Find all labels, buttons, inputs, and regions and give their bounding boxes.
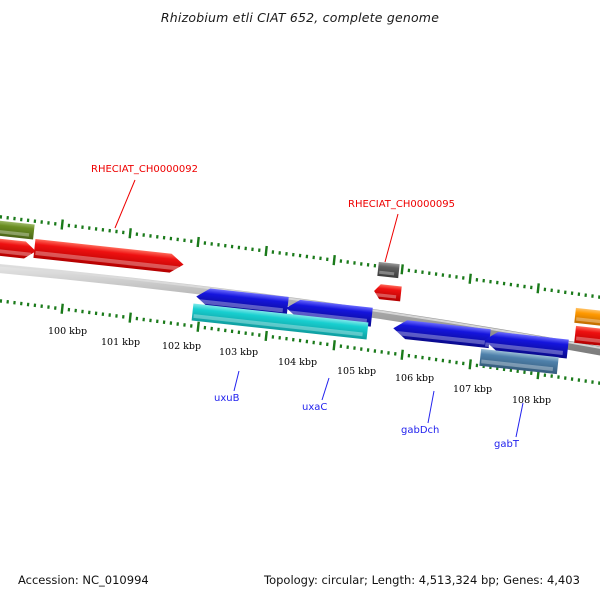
ruler-top-minor-tick [115,230,118,234]
ruler-bottom-minor-tick [374,349,377,353]
ruler-top-minor-tick [414,270,417,274]
ruler-bottom-minor-tick [163,320,166,324]
ruler-top-minor-tick [299,254,302,258]
ruler-bottom-minor-tick [210,327,213,331]
ruler-bottom-minor-tick [6,300,9,304]
ruler-bottom-minor-tick [285,337,288,341]
ruler-top-minor-tick [462,276,465,280]
ruler-top-minor-tick [204,241,207,245]
ruler-tick-label: 104 kbp [278,357,317,368]
feature-gray-box-shape[interactable] [377,262,399,278]
ruler-top-minor-tick [156,235,159,239]
ruler-bottom-minor-tick [584,379,587,383]
ruler-bottom-minor-tick [238,331,241,335]
ruler-top-minor-tick [278,251,281,255]
ruler-bottom-minor-tick [47,305,50,309]
ruler-bottom-minor-tick [476,364,479,368]
ruler-top-major-tick [128,228,131,238]
ruler-bottom-minor-tick [74,309,77,313]
feature-red-small[interactable] [0,237,37,259]
ruler-bottom-minor-tick [306,340,309,344]
ruler-top-minor-tick [530,286,533,290]
ruler-top-minor-tick [319,257,322,261]
locus-tag-label[interactable]: RHECIAT_CH0000092 [91,164,198,175]
ruler-top-minor-tick [482,279,485,283]
gene-label-layer[interactable]: uxuBuxaCgabDchgabT [214,371,523,450]
ruler-bottom-minor-tick [408,354,411,358]
locus-leader-line [115,180,135,228]
gene-name-label[interactable]: uxaC [302,402,327,413]
ruler-bottom-minor-tick [292,338,295,342]
feature-red-tiny[interactable] [373,284,401,302]
ruler-top-minor-tick [578,292,581,296]
ruler-top-minor-tick [591,294,594,298]
feature-green-left-shape[interactable] [0,220,35,240]
ruler-bottom-major-tick [60,304,63,314]
ruler-top-minor-tick [448,274,451,278]
ruler-tick-label: 107 kbp [453,384,492,395]
ruler-bottom-minor-tick [183,323,186,327]
ruler-top-minor-tick [251,248,254,252]
ruler-bottom-minor-tick [88,311,91,315]
ruler-top-minor-tick [238,246,241,250]
ruler-top-minor-tick [367,263,370,267]
ruler-bottom-minor-tick [523,370,526,374]
ruler-top-minor-tick [108,229,111,233]
ruler-top-minor-tick [584,293,587,297]
ruler-bottom-minor-tick [54,306,57,310]
ruler-bottom-minor-tick [176,322,179,326]
ruler-bottom-minor-tick [122,315,125,319]
ruler-bottom-major-tick [196,322,199,332]
ruler-top-minor-tick [516,284,519,288]
ruler-bottom-minor-tick [27,303,30,307]
ruler-top-minor-tick [244,247,247,251]
ruler-bottom-minor-tick [95,312,98,316]
ruler-bottom-minor-tick [299,339,302,343]
locus-tag-label[interactable]: RHECIAT_CH0000095 [348,199,455,210]
ruler-top-major-tick [332,255,335,265]
ruler-top-minor-tick [428,271,431,275]
ruler-bottom-minor-tick [34,304,37,308]
feature-red-long[interactable] [33,239,184,274]
ruler-tick-label: 108 kbp [512,395,551,406]
ruler-top-minor-tick [102,228,105,232]
ruler-bottom-major-tick [400,350,403,360]
ruler-bottom-minor-tick [557,375,560,379]
ruler-top-minor-tick [224,244,227,248]
ruler-top-minor-tick [136,232,139,236]
ruler-bottom-minor-tick [360,347,363,351]
ruler-tick-label: 102 kbp [162,341,201,352]
ruler-top-major-tick [196,237,199,247]
ruler-top-minor-tick [489,280,492,284]
ruler-bottom-major-tick [468,359,471,369]
ruler-top-major-tick [468,274,471,284]
genome-viewer: Rhizobium etli CIAT 652, complete genome [0,0,600,600]
ruler-top-minor-tick [183,239,186,243]
ruler-bottom-minor-tick [108,313,111,317]
feature-red-tiny-shape[interactable] [373,284,401,302]
ruler-bottom-minor-tick [190,324,193,328]
ruler-tick-label: 101 kbp [101,337,140,348]
ruler-bottom-major-tick [264,331,267,341]
accession-status: Accession: NC_010994 [18,573,149,587]
ruler-top-major-tick [264,246,267,256]
ruler-top-minor-tick [476,278,479,282]
ruler-bottom-major-tick [128,313,131,323]
ruler-top-minor-tick [54,222,57,226]
feature-track[interactable] [0,220,600,375]
ruler-top-minor-tick [523,285,526,289]
ruler-top-major-tick [536,283,539,293]
gene-name-label[interactable]: gabDch [401,425,439,436]
ruler-bottom-minor-tick [530,371,533,375]
ruler-bottom-minor-tick [571,377,574,381]
ruler-top-minor-tick [285,252,288,256]
ruler-top-minor-tick [550,289,553,293]
ruler-top-minor-tick [149,234,152,238]
ruler-bottom-minor-tick [550,374,553,378]
ruler-bottom-minor-tick [81,310,84,314]
ruler-top-minor-tick [442,273,445,277]
gene-leader-line [234,371,239,391]
ruler-top-minor-tick [170,237,173,241]
ruler-bottom-minor-tick [278,336,281,340]
ruler-top-minor-tick [544,288,547,292]
ruler-top-minor-tick [557,290,560,294]
ruler-bottom-minor-tick [136,317,139,321]
ruler-top-minor-tick [374,264,377,268]
ruler-bottom-minor-tick [448,360,451,364]
ruler-bottom-minor-tick [346,345,349,349]
ruler-top-minor-tick [306,255,309,259]
ruler-bottom-minor-tick [353,346,356,350]
ruler-tick-label: 105 kbp [337,366,376,377]
ruler-bottom-minor-tick [272,335,275,339]
ruler-top-minor-tick [176,238,179,242]
ruler-top-minor-tick [292,253,295,257]
ruler-top-minor-tick [312,256,315,260]
ruler-top-minor-tick [163,236,166,240]
locus-leader-line [385,214,398,262]
ruler-top-minor-tick [408,269,411,273]
ruler-top-minor-tick [190,239,193,243]
genome-map-canvas[interactable]: RHECIAT_CH0000092RHECIAT_CH0000095 uxuBu… [0,0,600,600]
ruler-bottom-minor-tick [224,329,227,333]
ruler-top-minor-tick [455,275,458,279]
ruler-top-minor-tick [503,282,506,286]
genome-stats-status: Topology: circular; Length: 4,513,324 bp… [264,573,580,587]
gene-name-label[interactable]: uxuB [214,393,240,404]
ruler-top-minor-tick [340,259,343,263]
ruler-top-minor-tick [564,291,567,295]
ruler-bottom-minor-tick [149,319,152,323]
ruler-bottom-minor-tick [414,355,417,359]
ruler-top-minor-tick [217,243,220,247]
ruler-tick-label: 103 kbp [219,347,258,358]
feature-orange-right[interactable] [574,308,600,327]
ruler-bottom-minor-tick [367,348,370,352]
feature-red-small-shape[interactable] [0,237,37,259]
ruler-bottom-minor-tick [462,362,465,366]
gene-leader-line [428,391,434,423]
ruler-bottom-minor-tick [421,356,424,360]
gene-leader-line [322,378,329,400]
ruler-bottom-minor-tick [102,312,105,316]
ruler-top-minor-tick [40,220,43,224]
ruler-top-minor-tick [95,227,98,231]
ruler-top-minor-tick [435,272,438,276]
ruler-bottom-minor-tick [578,378,581,382]
ruler-top-minor-tick [68,224,71,228]
ruler-bottom-minor-tick [156,320,159,324]
ruler-bottom-minor-tick [115,314,118,318]
ruler-bottom-minor-tick [564,376,567,380]
ruler-top-minor-tick [360,262,363,266]
ruler-bottom-minor-tick [544,373,547,377]
ruler-bottom-minor-tick [380,350,383,354]
ruler-top-minor-tick [496,281,499,285]
ruler-bottom-major-tick [332,340,335,350]
ruler-top-minor-tick [510,283,513,287]
ruler-bottom-minor-tick [204,326,207,330]
ruler-bottom-minor-tick [435,358,438,362]
ruler-bottom-minor-tick [428,357,431,361]
ruler-bottom-minor-tick [394,352,397,356]
ruler-tick-label: 100 kbp [48,326,87,337]
ruler-top-minor-tick [34,219,37,223]
ruler-bottom-minor-tick [326,343,329,347]
ruler-bottom-minor-tick [217,328,220,332]
ruler-bottom-minor-tick [312,341,315,345]
ruler-bottom-minor-tick [387,351,390,355]
ruler-top-major-tick [400,264,403,274]
ruler-top-minor-tick [0,215,2,219]
ruler-bottom-minor-tick [68,308,71,312]
ruler-top-minor-tick [210,242,213,246]
ruler-top-minor-tick [6,216,9,220]
ruler-bottom-minor-tick [319,342,322,346]
gene-name-label[interactable]: gabT [494,439,520,450]
ruler-top-minor-tick [88,226,91,230]
ruler-top-minor-tick [272,250,275,254]
feature-green-left[interactable] [0,220,35,240]
ruler-top-minor-tick [20,218,23,222]
ruler-bottom-minor-tick [231,330,234,334]
ruler-bottom-minor-tick [13,301,16,305]
ruler-bottom-minor-tick [170,321,173,325]
ruler-bottom-minor-tick [142,318,145,322]
ruler-top-minor-tick [346,260,349,264]
ruler-top-minor-tick [74,225,77,229]
ruler-top-minor-tick [231,245,234,249]
ruler-top-major-tick [60,219,63,229]
ruler-top-minor-tick [571,291,574,295]
feature-gray-box[interactable] [377,262,399,278]
ruler-bottom-minor-tick [0,299,2,303]
ruler-top-minor-tick [13,217,16,221]
ruler-bottom-minor-tick [40,304,43,308]
ruler-bottom-minor-tick [340,344,343,348]
ruler-bottom-minor-tick [455,361,458,365]
ruler-top-minor-tick [122,231,125,235]
ruler-top-minor-tick [81,225,84,229]
gene-leader-line [516,403,523,437]
ruler-top-minor-tick [47,221,50,225]
ruler-top-minor-tick [421,270,424,274]
ruler-bottom-minor-tick [244,331,247,335]
ruler-tick-label: 106 kbp [395,373,434,384]
ruler-top-minor-tick [258,248,261,252]
ruler-top-minor-tick [326,258,329,262]
ruler-bottom-minor-tick [258,333,261,337]
ruler-bottom-minor-tick [591,380,594,384]
ruler-bottom-minor-tick [251,332,254,336]
locus-label-layer[interactable]: RHECIAT_CH0000092RHECIAT_CH0000095 [91,164,455,262]
ruler-top-minor-tick [142,233,145,237]
ruler-top-minor-tick [27,219,30,223]
ruler-top-minor-tick [353,261,356,265]
ruler-bottom-minor-tick [20,302,23,306]
ruler-bottom-minor-tick [442,359,445,363]
